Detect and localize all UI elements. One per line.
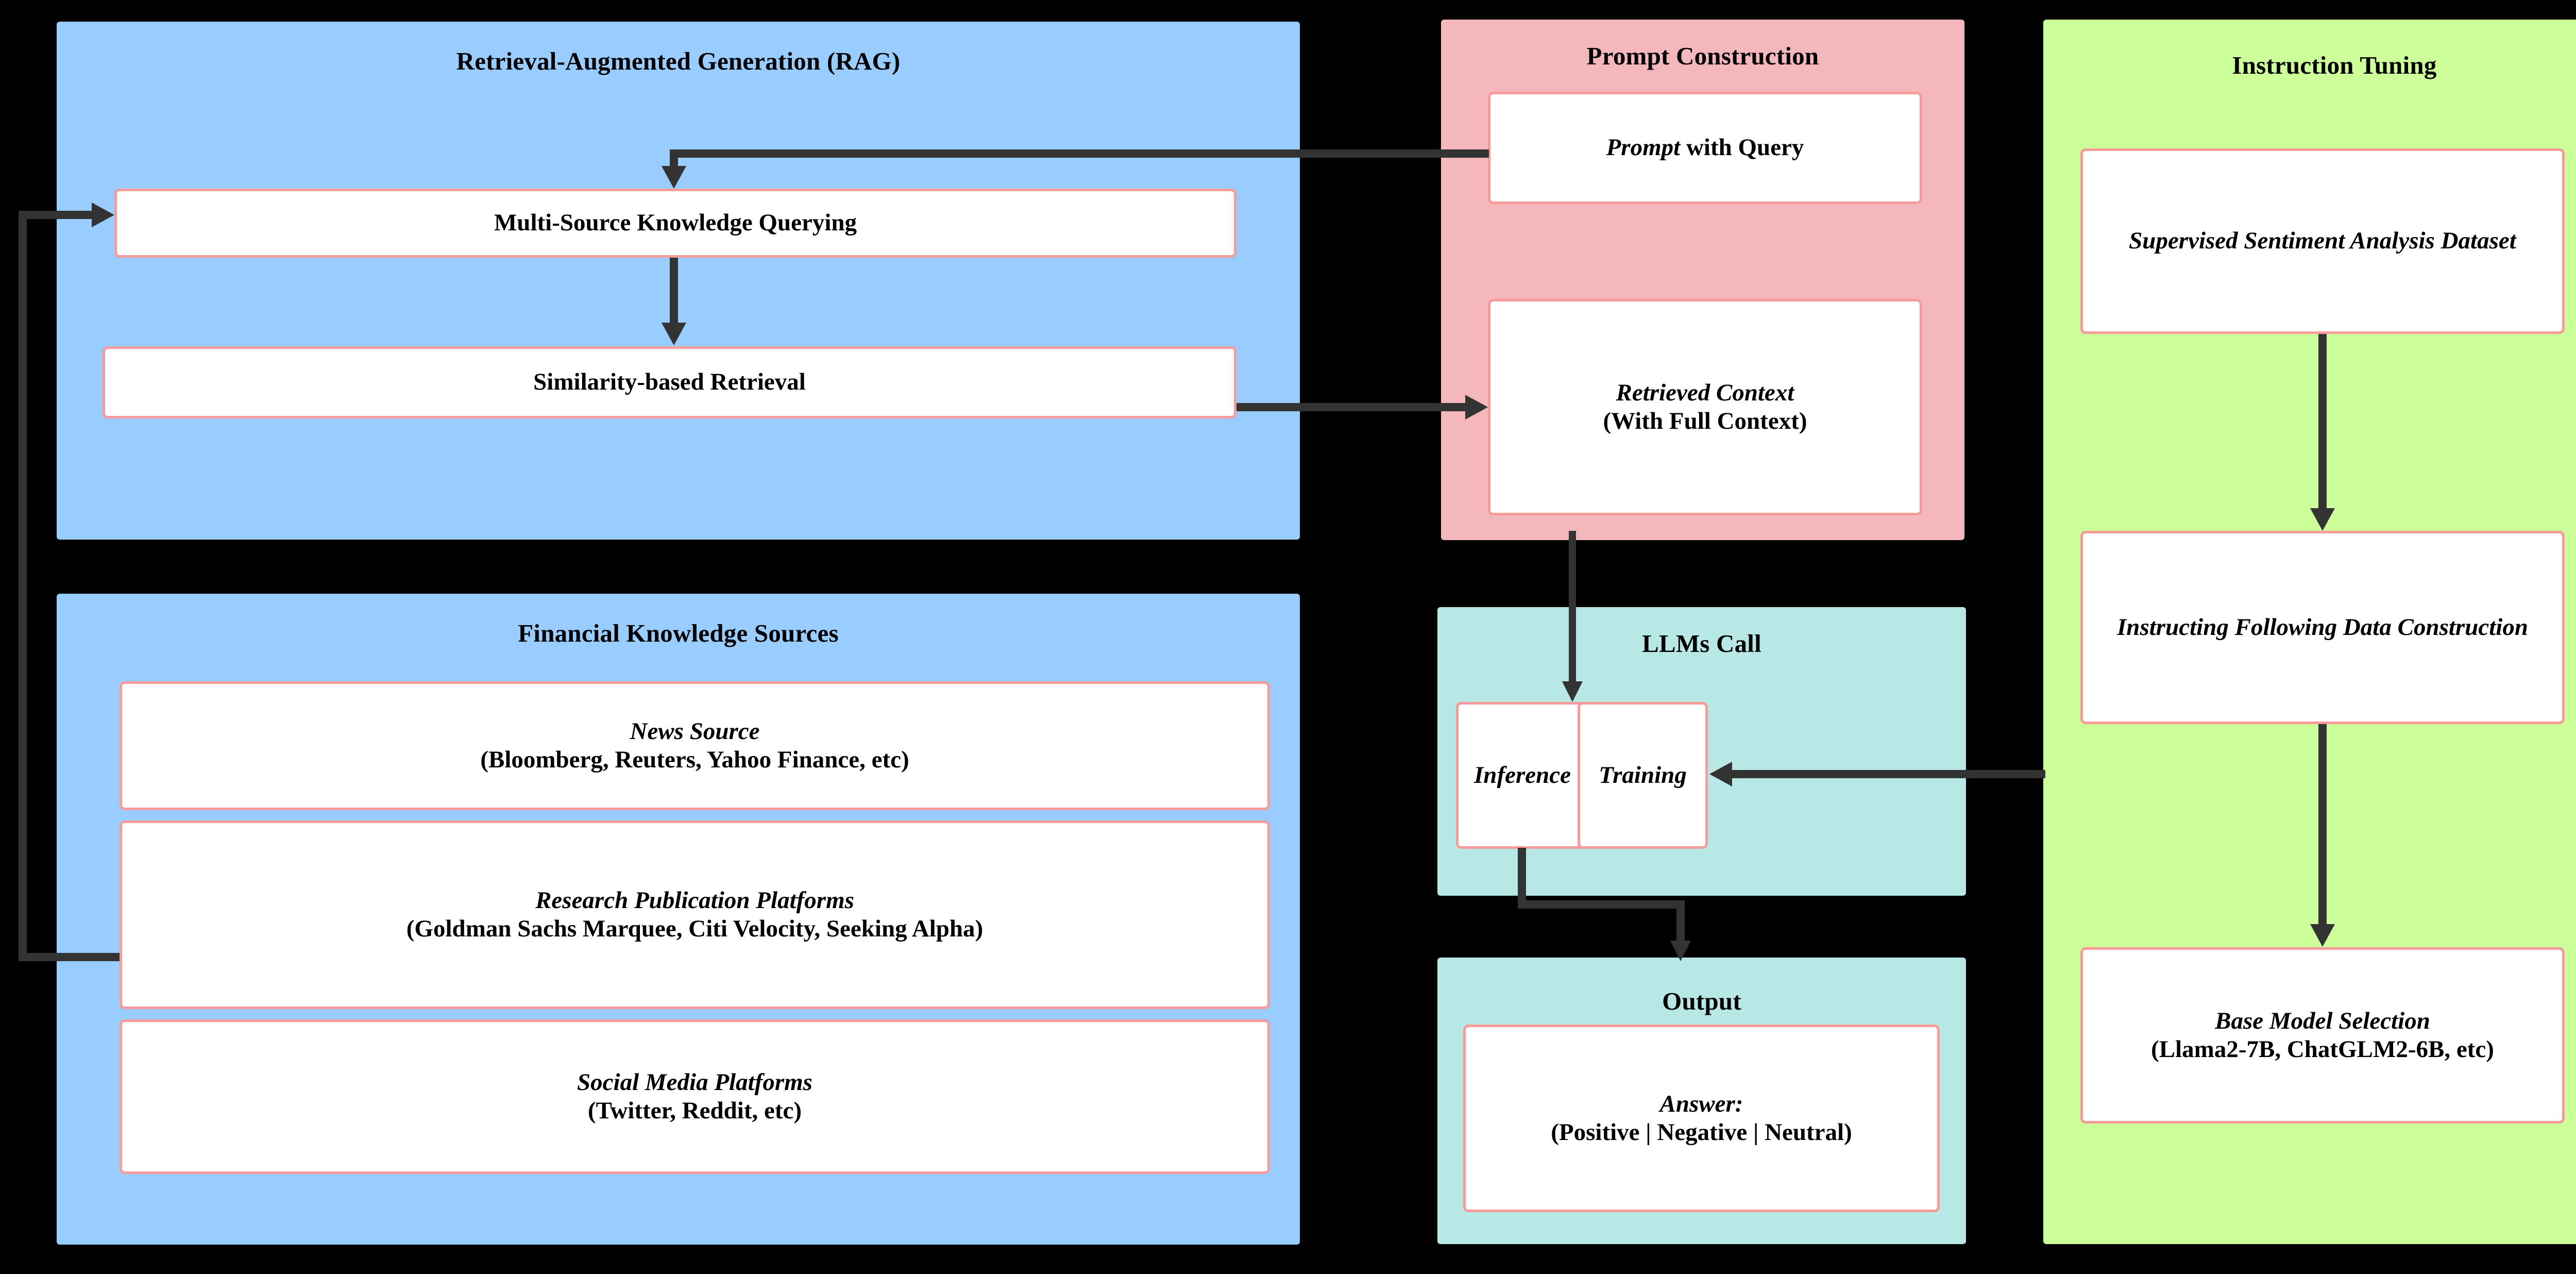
box-retrieved-context[interactable]: Retrieved Context (With Full Context) <box>1488 299 1922 515</box>
box-multi-source-knowledge-querying[interactable]: Multi-Source Knowledge Querying <box>114 189 1236 258</box>
connector-prompt-panel-to-inference-line <box>1569 531 1576 685</box>
connector-tuning-to-training-arrowhead <box>1709 762 1732 786</box>
panel-llm-title: LLMs Call <box>1437 629 1966 658</box>
connector-sources-to-querying-top <box>19 211 92 219</box>
panel-sources-title: Financial Knowledge Sources <box>57 618 1300 648</box>
connector-inference-to-output-arrowhead <box>1670 941 1691 961</box>
box-label: Training <box>1599 761 1687 790</box>
box-prompt-with-query[interactable]: Prompt with Query <box>1488 92 1922 204</box>
connector-sources-to-querying-bottom <box>19 953 120 961</box>
box-name: Supervised Sentiment Analysis Dataset <box>2129 227 2516 255</box>
box-training[interactable]: Training <box>1578 702 1708 849</box>
connector-dataset-to-construction-arrowhead <box>2310 508 2335 531</box>
box-news-source[interactable]: News Source (Bloomberg, Reuters, Yahoo F… <box>120 681 1270 810</box>
connector-dataset-to-construction-line <box>2318 334 2327 510</box>
box-name: Instructing Following Data Construction <box>2117 613 2528 642</box>
connector-querying-to-retrieval-line <box>670 258 678 324</box>
connector-sources-to-querying-vertical <box>19 211 27 961</box>
box-inference[interactable]: Inference <box>1456 702 1589 849</box>
box-supervised-sentiment-analysis-dataset[interactable]: Supervised Sentiment Analysis Dataset <box>2080 148 2565 334</box>
box-detail: (Positive | Negative | Neutral) <box>1551 1119 1852 1146</box>
box-label: Multi-Source Knowledge Querying <box>494 209 857 237</box>
connector-tuning-to-training-line <box>1731 770 2045 778</box>
box-detail: (Bloomberg, Reuters, Yahoo Finance, etc) <box>480 746 909 773</box>
connector-prompt-to-querying-horizontal <box>670 149 1489 158</box>
box-label: Similarity-based Retrieval <box>533 368 806 396</box>
box-name: Social Media Platforms <box>577 1069 812 1096</box>
box-name: Answer: <box>1660 1091 1743 1117</box>
panel-prompt-title: Prompt Construction <box>1441 41 1964 71</box>
connector-prompt-to-querying-arrowhead <box>662 166 686 189</box>
connector-querying-to-retrieval-arrowhead <box>662 323 686 345</box>
box-name: Research Publication Platforms <box>535 887 854 914</box>
panel-output-title: Output <box>1437 986 1966 1016</box>
box-detail: (With Full Context) <box>1603 408 1807 434</box>
box-name: News Source <box>630 718 760 745</box>
box-detail: (Goldman Sachs Marquee, Citi Velocity, S… <box>406 915 983 942</box>
box-name: Retrieved Context <box>1616 379 1794 406</box>
box-answer[interactable]: Answer: (Positive | Negative | Neutral) <box>1463 1025 1940 1212</box>
connector-construction-to-base-model-arrowhead <box>2310 924 2335 947</box>
panel-rag-title: Retrieval-Augmented Generation (RAG) <box>57 46 1300 76</box>
connector-sources-to-querying-arrowhead <box>92 203 114 227</box>
box-research-publication-platforms[interactable]: Research Publication Platforms (Goldman … <box>120 820 1270 1009</box>
box-detail: (Llama2-7B, ChatGLM2-6B, etc) <box>2151 1036 2494 1063</box>
diagram-canvas: Retrieval-Augmented Generation (RAG) Mul… <box>0 0 2576 1274</box>
box-base-model-selection[interactable]: Base Model Selection (Llama2-7B, ChatGLM… <box>2080 947 2565 1124</box>
box-similarity-based-retrieval[interactable]: Similarity-based Retrieval <box>103 346 1236 418</box>
connector-inference-to-output-horizontal <box>1518 900 1685 909</box>
box-label: Inference <box>1474 761 1571 790</box>
box-emphasis: Prompt <box>1606 134 1681 161</box>
box-detail: (Twitter, Reddit, etc) <box>588 1097 802 1124</box>
box-instructing-following-data-construction[interactable]: Instructing Following Data Construction <box>2080 531 2565 724</box>
panel-rag: Retrieval-Augmented Generation (RAG) <box>57 22 1300 540</box>
box-name: Base Model Selection <box>2215 1008 2430 1034</box>
connector-prompt-panel-to-inference-arrowhead <box>1562 681 1583 702</box>
connector-inference-to-output-vertical-a <box>1518 848 1526 909</box>
box-rest: with Query <box>1680 134 1804 161</box>
connector-construction-to-base-model-line <box>2318 724 2327 926</box>
connector-retrieval-to-context-line <box>1236 403 1467 411</box>
box-social-media-platforms[interactable]: Social Media Platforms (Twitter, Reddit,… <box>120 1019 1270 1174</box>
connector-inference-to-output-vertical-b <box>1676 900 1685 945</box>
connector-retrieval-to-context-arrowhead <box>1465 395 1488 420</box>
panel-tuning-title: Instruction Tuning <box>2043 51 2576 80</box>
